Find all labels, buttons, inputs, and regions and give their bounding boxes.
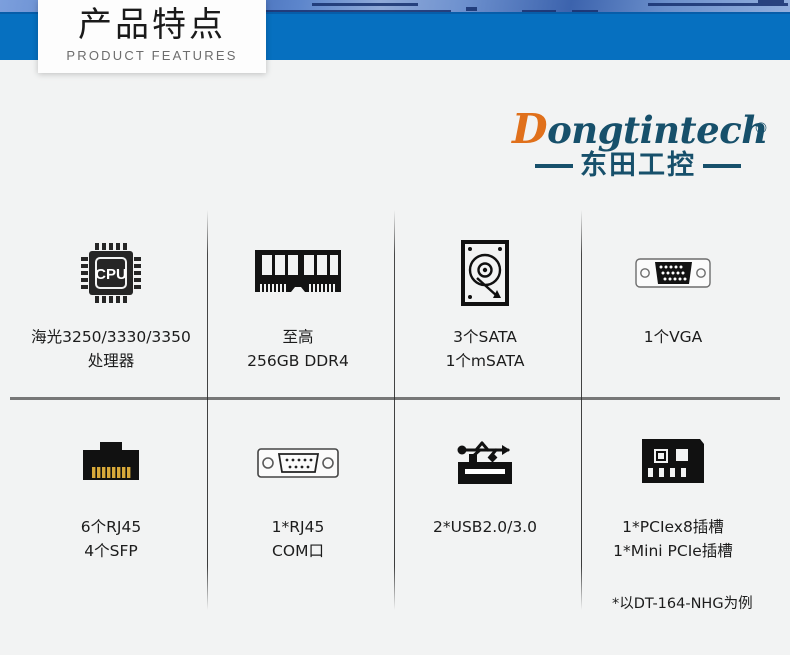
section-title-english: PRODUCT FEATURES: [66, 47, 237, 65]
feature-caption-line1: 3个SATA: [446, 325, 525, 349]
feature-item-pcie: 1*PCIex8插槽 1*Mini PCIe插槽: [580, 417, 766, 563]
feature-caption-line1: 1*PCIex8插槽: [613, 515, 733, 539]
feature-item-memory: 至高 256GB DDR4: [205, 227, 391, 373]
feature-caption: 3个SATA 1个mSATA: [446, 325, 525, 373]
feature-caption: 1个VGA: [644, 325, 703, 349]
pcie-card-icon: [638, 417, 708, 509]
feature-item-vga: 1个VGA: [580, 227, 766, 349]
feature-caption: 6个RJ45 4个SFP: [81, 515, 141, 563]
section-title-chinese: 产品特点: [78, 3, 226, 47]
cpu-chip-icon: CPU: [75, 227, 147, 319]
logo-brand-chinese: 东田工控: [573, 151, 703, 181]
logo-initial-letter: D: [512, 105, 547, 153]
rj45-port-icon: [81, 417, 141, 509]
feature-item-serial: 1*RJ45 COM口: [205, 417, 391, 563]
feature-caption-line1: 1个VGA: [644, 325, 703, 349]
feature-caption: 1*RJ45 COM口: [272, 515, 325, 563]
feature-caption-line2: 处理器: [31, 349, 191, 373]
hard-disk-icon: [461, 227, 509, 319]
feature-caption: 海光3250/3330/3350 处理器: [31, 325, 191, 373]
svg-text:CPU: CPU: [95, 266, 127, 283]
feature-caption-line1: 1*RJ45: [272, 515, 325, 539]
model-footnote: *以DT-164-NHG为例: [612, 592, 753, 613]
feature-item-network: 6个RJ45 4个SFP: [18, 417, 204, 563]
feature-caption-line2: 256GB DDR4: [247, 349, 349, 373]
registered-trademark-icon: ®: [755, 105, 766, 153]
memory-ram-icon: [253, 227, 343, 319]
feature-item-cpu: CPU 海光3250/3330/3350 处理器: [18, 227, 204, 373]
logo-dash-left-icon: [535, 164, 573, 168]
logo-brand-name: ongtintech: [547, 108, 768, 152]
feature-caption-line1: 至高: [247, 325, 349, 349]
feature-grid: CPU 海光3250/3330/3350 处理器: [0, 205, 790, 615]
feature-item-usb: 2*USB2.0/3.0: [392, 417, 578, 539]
feature-caption-line2: 1个mSATA: [446, 349, 525, 373]
usb-port-icon: [450, 417, 520, 509]
feature-caption-line2: COM口: [272, 539, 325, 563]
company-logo: Dongtintech® 东田工控: [512, 105, 762, 187]
feature-caption-line2: 1*Mini PCIe插槽: [613, 539, 733, 563]
logo-chinese-line: 东田工控: [514, 150, 762, 182]
logo-dash-right-icon: [703, 164, 741, 168]
feature-item-storage: 3个SATA 1个mSATA: [392, 227, 578, 373]
feature-caption: 至高 256GB DDR4: [247, 325, 349, 373]
feature-caption-line1: 海光3250/3330/3350: [31, 325, 191, 349]
feature-caption: 2*USB2.0/3.0: [433, 515, 537, 539]
grid-horizontal-divider: [10, 397, 780, 400]
feature-caption-line2: 4个SFP: [81, 539, 141, 563]
feature-caption: 1*PCIex8插槽 1*Mini PCIe插槽: [613, 515, 733, 563]
page-banner: 产品特点 PRODUCT FEATURES: [0, 0, 790, 80]
section-title-card: 产品特点 PRODUCT FEATURES: [38, 0, 266, 73]
vga-port-icon: [635, 227, 711, 319]
feature-caption-line1: 2*USB2.0/3.0: [433, 515, 537, 539]
feature-caption-line1: 6个RJ45: [81, 515, 141, 539]
serial-db9-port-icon: [257, 417, 339, 509]
logo-wordmark: Dongtintech®: [512, 105, 762, 153]
